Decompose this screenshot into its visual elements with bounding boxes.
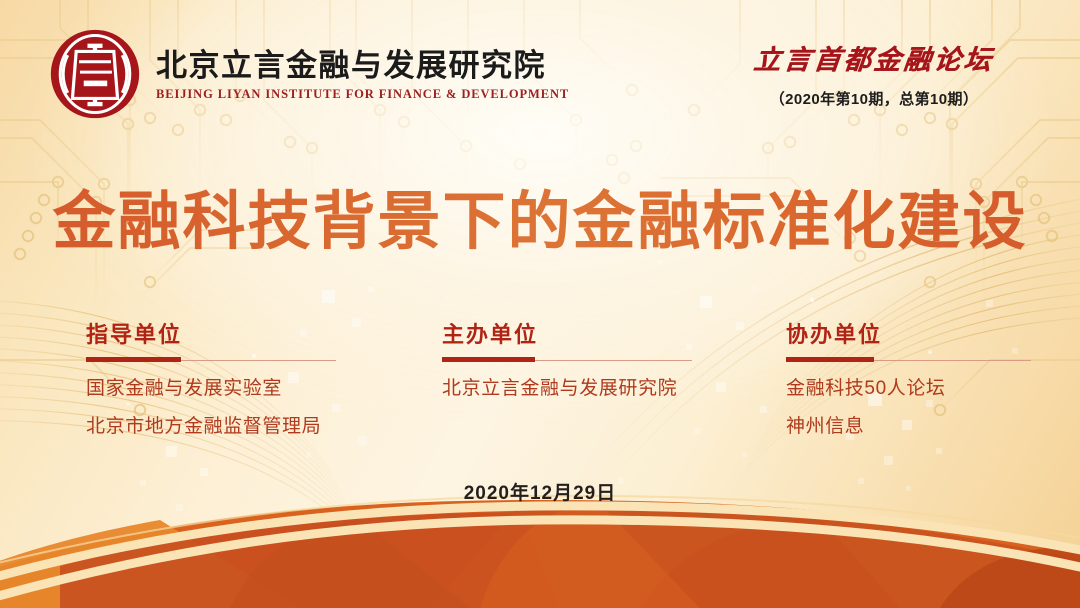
unit-underline	[442, 357, 692, 363]
unit-column-guidance: 指导单位 国家金融与发展实验室 北京市地方金融监督管理局	[86, 322, 336, 439]
unit-item: 国家金融与发展实验室	[86, 377, 336, 401]
forum-title: 立言首都金融论坛	[722, 38, 1026, 77]
unit-underline	[86, 357, 336, 363]
unit-heading: 主办单位	[442, 322, 692, 348]
brand-name-en: BEIJING LIYAN INSTITUTE FOR FINANCE & DE…	[156, 87, 569, 102]
unit-item: 神州信息	[786, 415, 1031, 439]
forum-issue-number: （2020年第10期，总第10期）	[724, 88, 1024, 109]
poster-canvas: 北京立言金融与发展研究院 BEIJING LIYAN INSTITUTE FOR…	[0, 0, 1080, 608]
unit-item: 北京市地方金融监督管理局	[86, 415, 336, 439]
unit-heading: 指导单位	[86, 322, 336, 348]
institute-brand: 北京立言金融与发展研究院 BEIJING LIYAN INSTITUTE FOR…	[48, 27, 569, 121]
brand-name-cn: 北京立言金融与发展研究院	[156, 50, 569, 83]
unit-column-host: 主办单位 北京立言金融与发展研究院	[442, 322, 692, 401]
unit-item: 北京立言金融与发展研究院	[442, 377, 692, 401]
unit-item: 金融科技50人论坛	[786, 377, 1031, 401]
unit-column-coorganizer: 协办单位 金融科技50人论坛 神州信息	[786, 322, 1031, 439]
liyan-seal-logo-icon	[48, 27, 142, 121]
unit-underline	[786, 357, 1031, 363]
unit-heading: 协办单位	[786, 322, 1031, 348]
forum-branding: 立言首都金融论坛 （2020年第10期，总第10期）	[724, 38, 1024, 109]
event-date: 2020年12月29日	[0, 478, 1080, 505]
poster-header: 北京立言金融与发展研究院 BEIJING LIYAN INSTITUTE FOR…	[0, 0, 1080, 132]
organizing-units: 指导单位 国家金融与发展实验室 北京市地方金融监督管理局 主办单位 北京立言金融…	[0, 322, 1080, 442]
page-title: 金融科技背景下的金融标准化建设	[0, 188, 1080, 257]
